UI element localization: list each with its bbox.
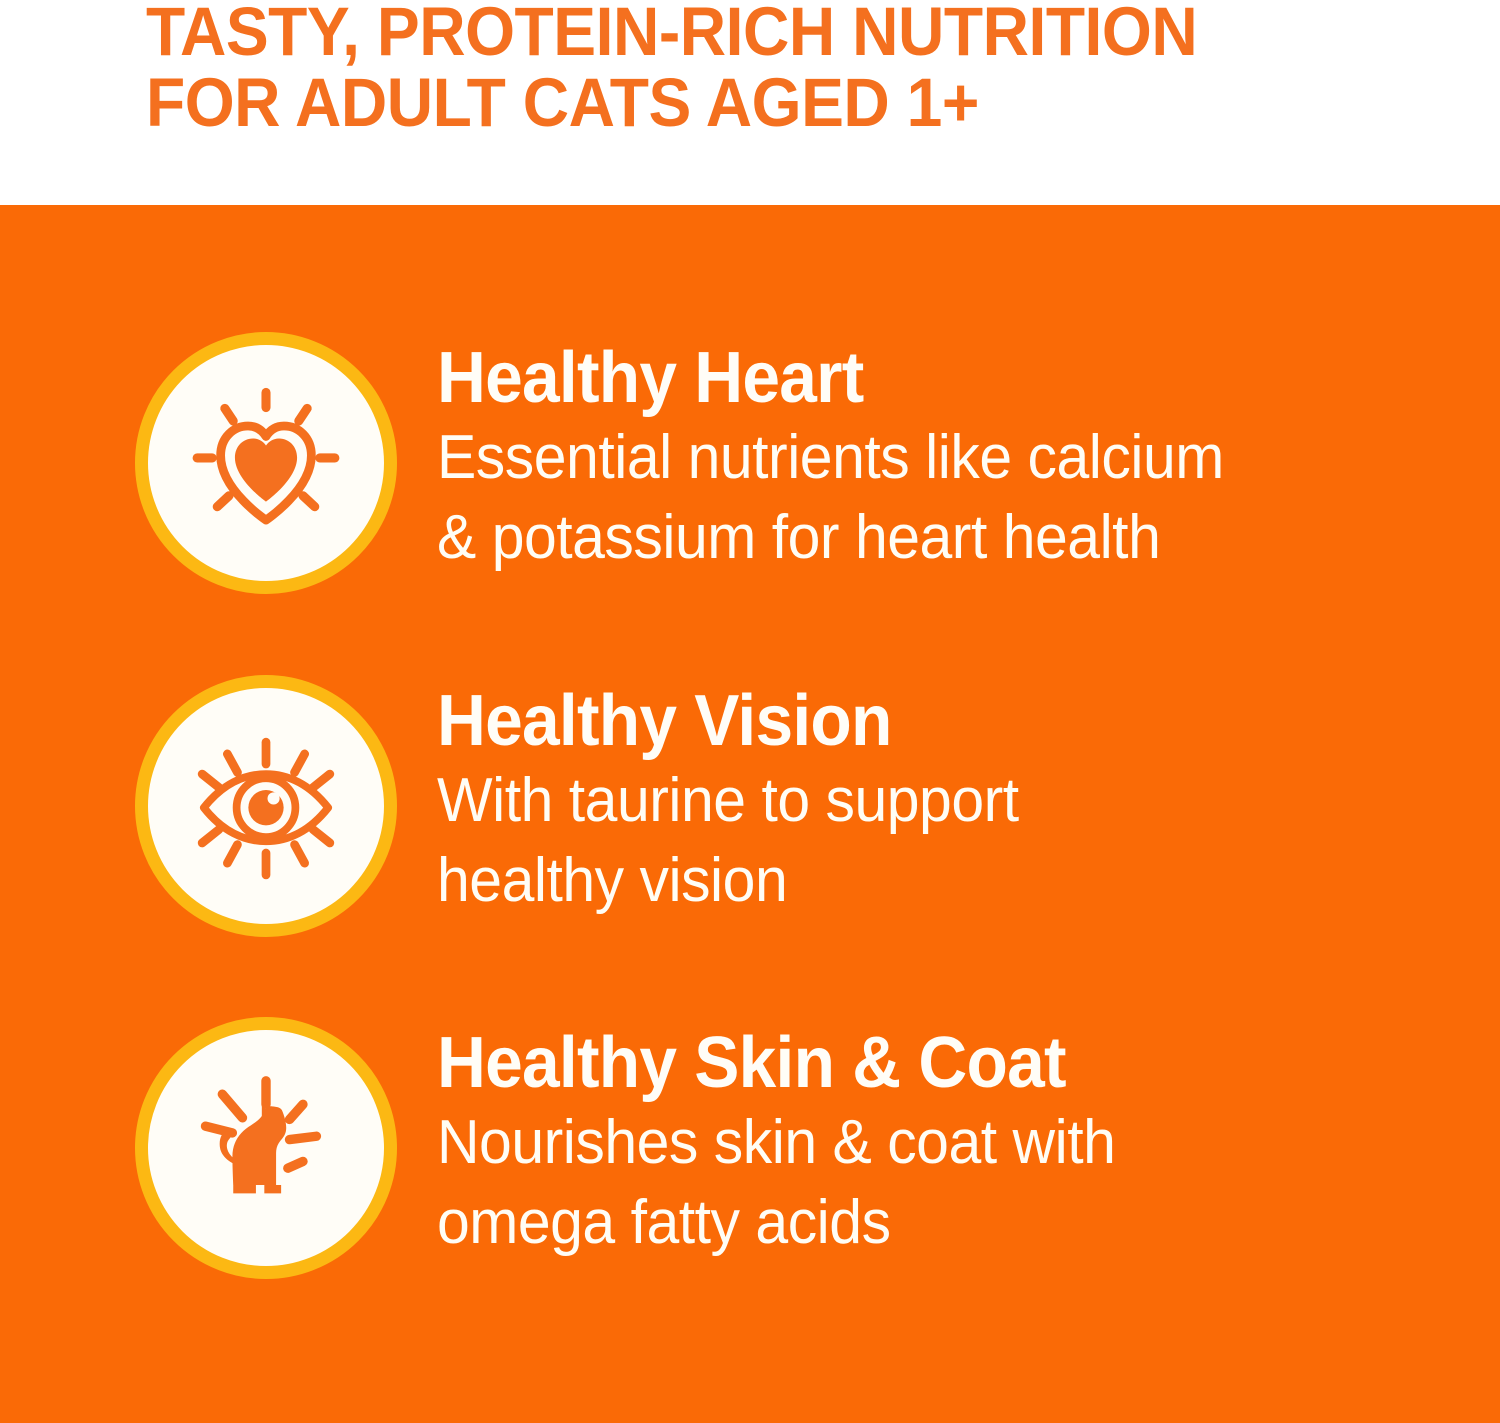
radiant-eye-icon xyxy=(135,675,397,937)
benefit-text-group: Healthy Vision With taurine to support h… xyxy=(437,683,1397,921)
page-title: TASTY, PROTEIN-RICH NUTRITION FOR ADULT … xyxy=(146,0,1355,138)
radiant-heart-icon xyxy=(135,332,397,594)
benefit-description: Nourishes skin & coat with omega fatty a… xyxy=(437,1103,1349,1263)
benefits-panel: Healthy Heart Essential nutrients like c… xyxy=(0,205,1500,1423)
benefit-description: Essential nutrients like calcium & potas… xyxy=(437,418,1349,578)
benefit-text-group: Healthy Skin & Coat Nourishes skin & coa… xyxy=(437,1025,1397,1263)
benefit-title: Healthy Heart xyxy=(437,340,1339,416)
benefit-title: Healthy Vision xyxy=(437,683,1339,759)
benefit-title: Healthy Skin & Coat xyxy=(437,1025,1339,1101)
product-feature-panel: TASTY, PROTEIN-RICH NUTRITION FOR ADULT … xyxy=(0,0,1500,1423)
header-band: TASTY, PROTEIN-RICH NUTRITION FOR ADULT … xyxy=(0,0,1500,205)
benefit-description: With taurine to support healthy vision xyxy=(437,761,1349,921)
radiant-cat-icon xyxy=(135,1017,397,1279)
benefit-text-group: Healthy Heart Essential nutrients like c… xyxy=(437,340,1397,578)
